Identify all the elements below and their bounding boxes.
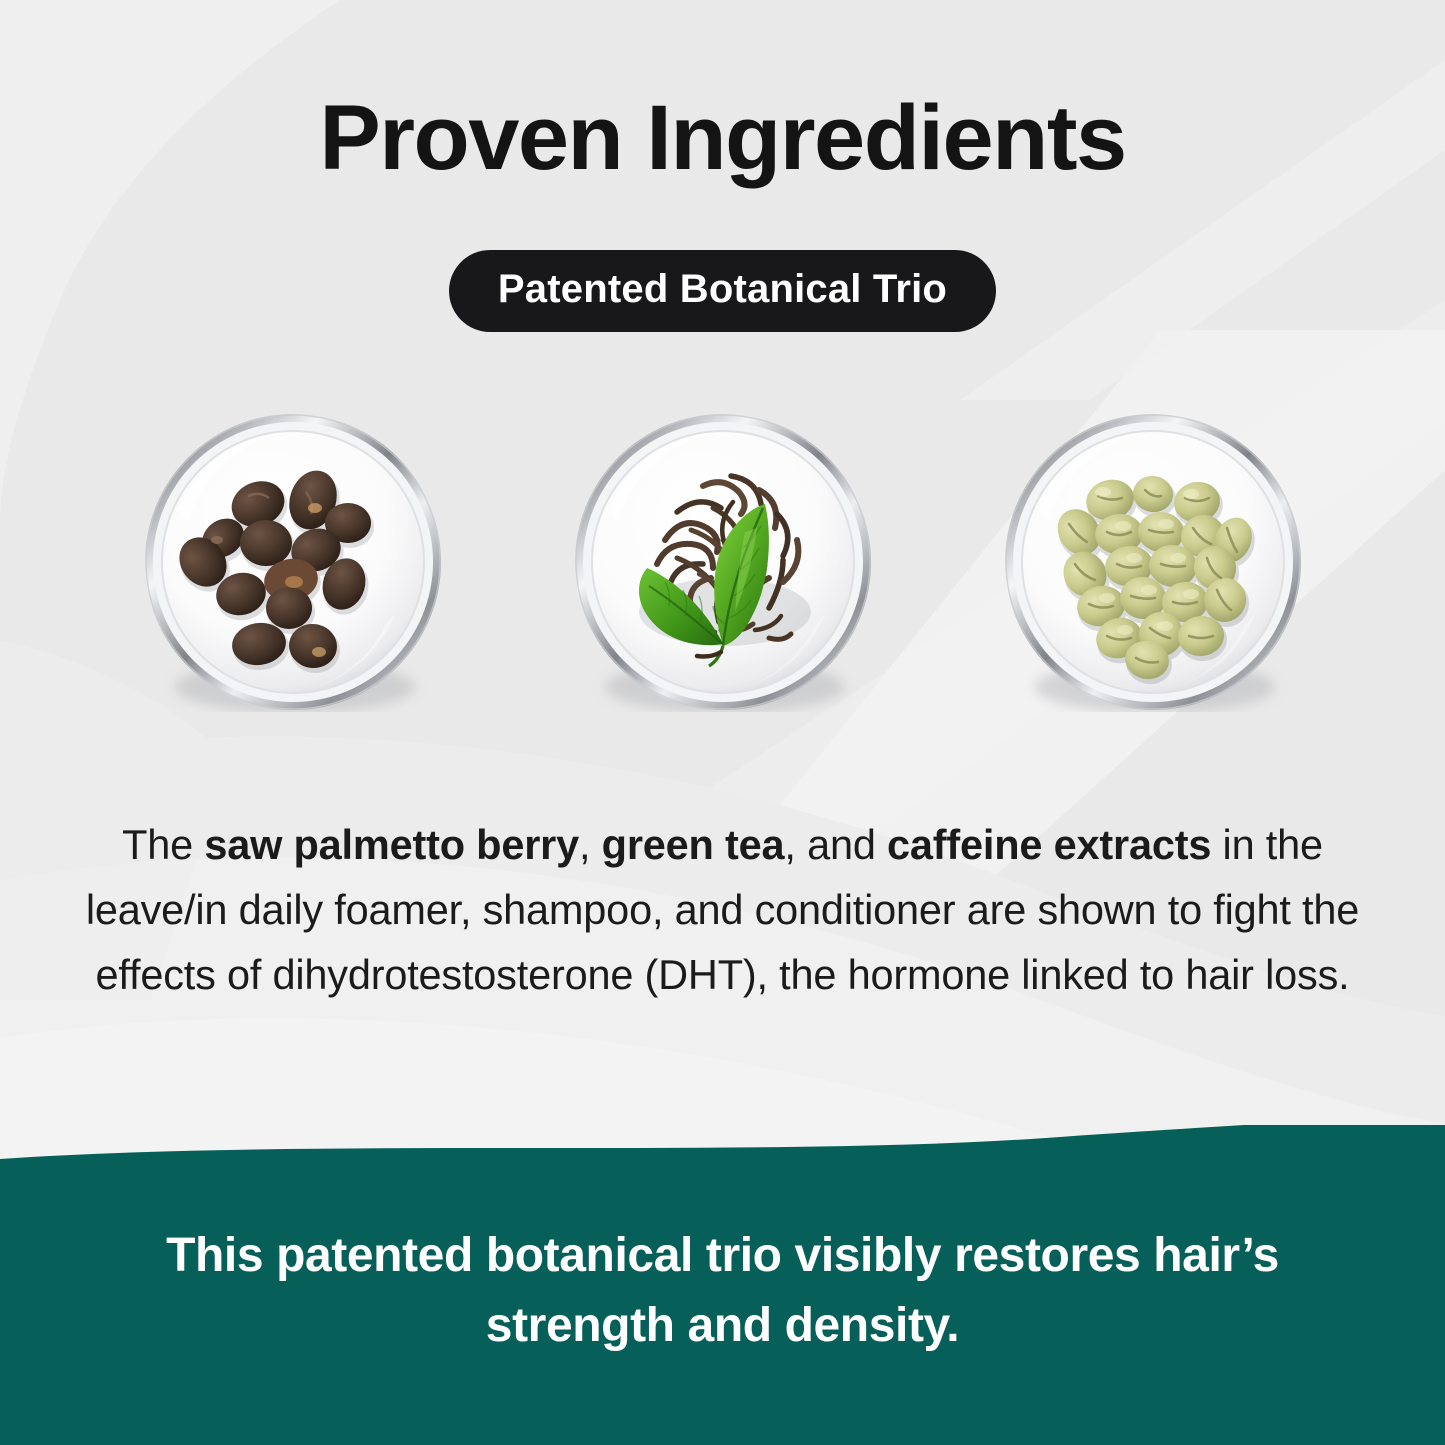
desc-bold-caffeine: caffeine extracts	[887, 821, 1211, 868]
footer-line-2: strength and density.	[486, 1299, 959, 1352]
ingredient-dish-saw-palmetto-berry	[143, 412, 443, 712]
desc-line-1-pre: The	[122, 821, 204, 868]
desc-line-1-post: in	[1211, 821, 1254, 868]
ingredient-dish-row	[0, 412, 1445, 732]
desc-line-1-mid2: , and	[784, 821, 887, 868]
footer-banner: This patented botanical trio visibly res…	[0, 1125, 1445, 1445]
ingredient-description: The saw palmetto berry, green tea, and c…	[72, 812, 1373, 1007]
badge-container: Patented Botanical Trio	[0, 250, 1445, 332]
desc-line-1-mid1: ,	[579, 821, 602, 868]
ingredient-dish-caffeine	[1003, 412, 1303, 712]
desc-bold-green-tea: green tea	[602, 821, 785, 868]
footer-headline: This patented botanical trio visibly res…	[60, 1221, 1385, 1361]
green-tea-dish-icon	[573, 412, 873, 712]
desc-bold-saw-palmetto: saw palmetto berry	[204, 821, 579, 868]
status-badge: Patented Botanical Trio	[449, 250, 996, 332]
green-coffee-bean-dish-icon	[1003, 412, 1303, 712]
ingredient-dish-green-tea	[573, 412, 873, 712]
footer-line-1: This patented botanical trio visibly res…	[166, 1229, 1279, 1282]
page-title: Proven Ingredients	[0, 92, 1445, 184]
saw-palmetto-dish-icon	[143, 412, 443, 712]
promo-graphic: Proven Ingredients Patented Botanical Tr…	[0, 0, 1445, 1445]
desc-line-4: hormone linked to hair loss.	[848, 951, 1350, 998]
